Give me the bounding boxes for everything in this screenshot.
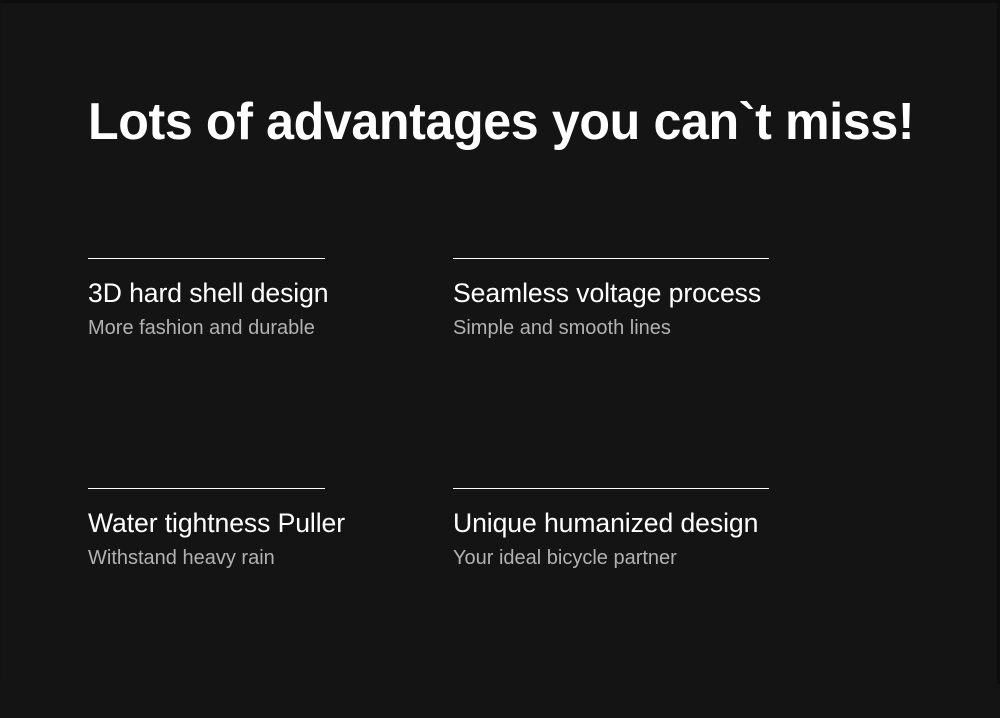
page-title: Lots of advantages you can`t miss! [88,95,914,150]
feature-subtitle: Simple and smooth lines [453,316,818,340]
divider-rule [88,258,325,259]
feature-title: 3D hard shell design [88,277,448,309]
feature-block-3d-hard-shell-design: 3D hard shell design More fashion and du… [88,258,453,488]
features-grid: 3D hard shell design More fashion and du… [88,258,918,718]
divider-rule [453,258,769,259]
divider-rule [453,488,769,489]
feature-subtitle: More fashion and durable [88,316,453,340]
feature-subtitle: Your ideal bicycle partner [453,546,818,570]
feature-block-seamless-voltage-process: Seamless voltage process Simple and smoo… [453,258,818,488]
feature-title: Water tightness Puller [88,507,448,539]
feature-subtitle: Withstand heavy rain [88,546,453,570]
feature-title: Seamless voltage process [453,277,813,309]
promo-banner: Lots of advantages you can`t miss! 3D ha… [0,0,1000,684]
divider-rule [88,488,325,489]
feature-title: Unique humanized design [453,507,813,539]
